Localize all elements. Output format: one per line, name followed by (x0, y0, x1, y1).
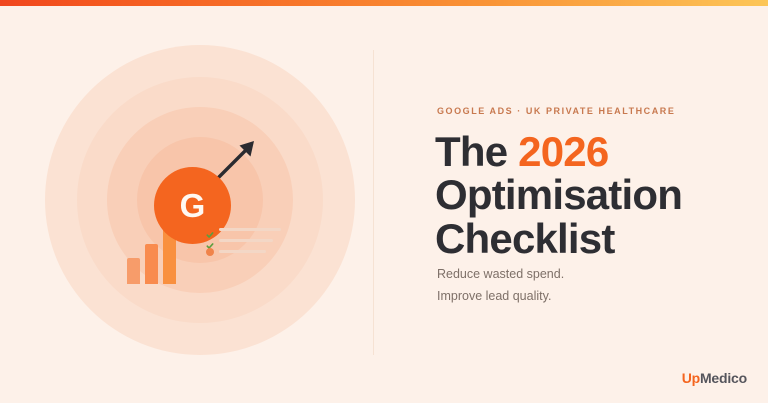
bar-small (127, 258, 140, 284)
bar-medium (145, 244, 158, 284)
logo-prefix: Up (682, 370, 700, 386)
check-icon (206, 237, 214, 245)
banner-canvas: G (0, 6, 768, 403)
checklist-line (219, 239, 273, 242)
checklist-line (219, 228, 281, 231)
vertical-divider (373, 50, 374, 355)
checklist-row (206, 235, 281, 246)
checklist-row (206, 224, 281, 235)
check-icon (206, 226, 214, 234)
page-title: The 2026 Optimisation Checklist (435, 130, 682, 260)
brand-logo: UpMedico (682, 370, 747, 386)
checklist-icon (206, 224, 281, 257)
eyebrow-label: GOOGLE ADS · UK PRIVATE HEALTHCARE (437, 106, 675, 116)
headline-year: 2026 (518, 128, 608, 175)
logo-suffix: Medico (700, 370, 747, 386)
subtitle: Reduce wasted spend. Improve lead qualit… (437, 263, 564, 308)
headline-plain: The (435, 128, 518, 175)
checklist-line (219, 250, 266, 253)
google-g-letter: G (180, 189, 206, 222)
headline-line-1: The 2026 (435, 128, 608, 175)
subtitle-line-2: Improve lead quality. (437, 285, 564, 307)
headline-line-2: Optimisation (435, 171, 682, 218)
subtitle-line-1: Reduce wasted spend. (437, 263, 564, 285)
bullet-dot-icon (206, 248, 214, 256)
hero-illustration: G (0, 6, 373, 403)
checklist-row (206, 246, 281, 257)
headline-line-3: Checklist (435, 215, 615, 262)
